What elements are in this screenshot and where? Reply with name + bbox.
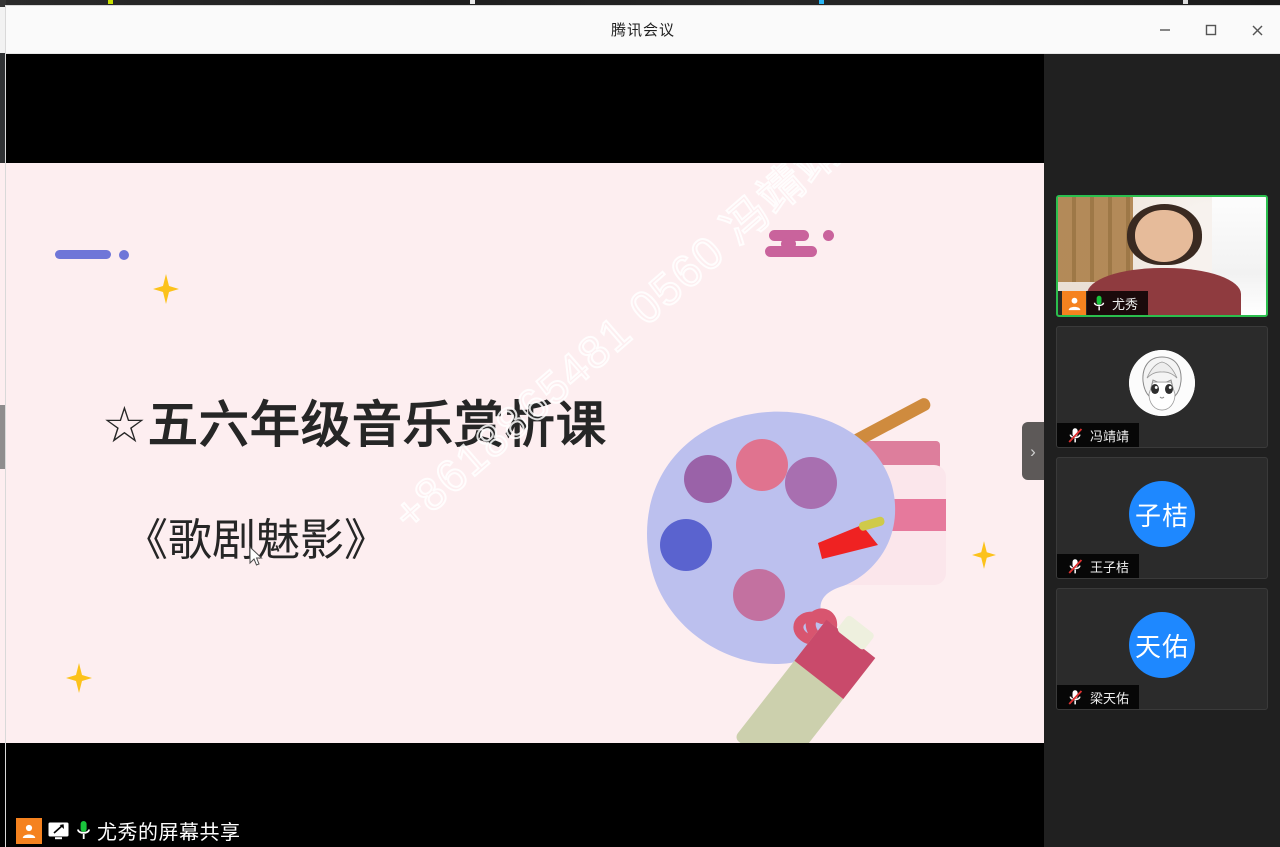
participant-tile[interactable]: 天佑 梁天佑 bbox=[1056, 588, 1268, 710]
screen-share-status-row: 尤秀的屏幕共享 bbox=[16, 816, 241, 845]
avatar: 子桔 bbox=[1129, 481, 1195, 547]
mic-muted-icon bbox=[1067, 427, 1084, 444]
screen-root: 腾讯会议 bbox=[0, 0, 1280, 847]
host-person-icon bbox=[1062, 291, 1086, 315]
avatar-initials: 天佑 bbox=[1135, 627, 1189, 664]
decoration-dot-icon bbox=[119, 250, 129, 260]
shared-slide: ☆五六年级音乐赏析课 《歌剧魅影》 +8618865481 0560 冯靖靖 bbox=[6, 163, 1044, 743]
participant-name: 尤秀 bbox=[1112, 294, 1138, 313]
title-bar: 腾讯会议 bbox=[6, 6, 1280, 54]
sparkle-icon bbox=[153, 274, 179, 304]
avatar-initials: 子桔 bbox=[1135, 496, 1189, 533]
participant-name: 冯靖靖 bbox=[1090, 426, 1129, 445]
chevron-right-icon: › bbox=[1030, 443, 1036, 460]
participant-tile[interactable]: 子桔 王子桔 bbox=[1056, 457, 1268, 579]
participant-tile[interactable]: 冯靖靖 bbox=[1056, 326, 1268, 448]
tencent-meeting-window: 腾讯会议 bbox=[6, 6, 1280, 847]
window-title: 腾讯会议 bbox=[611, 19, 675, 40]
participant-nameplate: 王子桔 bbox=[1057, 554, 1139, 578]
palette-illustration bbox=[626, 373, 986, 743]
mic-muted-icon bbox=[1067, 689, 1084, 706]
participant-nameplate: 尤秀 bbox=[1058, 291, 1148, 315]
host-person-icon bbox=[16, 818, 42, 844]
screen-share-status-bar: 尤秀的屏幕共享 bbox=[6, 743, 1044, 847]
close-button[interactable] bbox=[1234, 6, 1280, 54]
participant-nameplate: 冯靖靖 bbox=[1057, 423, 1139, 447]
participant-nameplate: 梁天佑 bbox=[1057, 685, 1139, 709]
minimize-button[interactable] bbox=[1142, 6, 1188, 54]
mic-muted-icon bbox=[1067, 558, 1084, 575]
slide-title: ☆五六年级音乐赏析课 bbox=[102, 385, 607, 457]
bg-mark-grey bbox=[1183, 0, 1188, 4]
sparkle-icon bbox=[66, 663, 92, 693]
bg-mark-blue bbox=[819, 0, 824, 4]
bg-mark-yellow bbox=[108, 0, 113, 4]
bg-mark-white bbox=[470, 0, 475, 4]
avatar bbox=[1129, 350, 1195, 416]
screen-share-status-text: 尤秀的屏幕共享 bbox=[97, 816, 241, 845]
participant-name: 王子桔 bbox=[1090, 557, 1129, 576]
participants-panel: 尤秀 bbox=[1044, 54, 1280, 847]
avatar: 天佑 bbox=[1129, 612, 1195, 678]
participant-name: 梁天佑 bbox=[1090, 688, 1129, 707]
mouse-cursor bbox=[249, 546, 263, 572]
decoration-bar-icon bbox=[55, 250, 111, 259]
collapse-panel-button[interactable]: › bbox=[1022, 422, 1044, 480]
mic-on-icon bbox=[74, 820, 92, 842]
screen-share-icon bbox=[47, 821, 69, 841]
shared-screen-stage[interactable]: ☆五六年级音乐赏析课 《歌剧魅影》 +8618865481 0560 冯靖靖 › bbox=[6, 54, 1044, 847]
window-controls bbox=[1142, 6, 1280, 54]
participant-tile[interactable]: 尤秀 bbox=[1056, 195, 1268, 317]
mic-on-icon bbox=[1092, 295, 1106, 312]
maximize-button[interactable] bbox=[1188, 6, 1234, 54]
meeting-body: ☆五六年级音乐赏析课 《歌剧魅影》 +8618865481 0560 冯靖靖 › bbox=[6, 54, 1280, 847]
